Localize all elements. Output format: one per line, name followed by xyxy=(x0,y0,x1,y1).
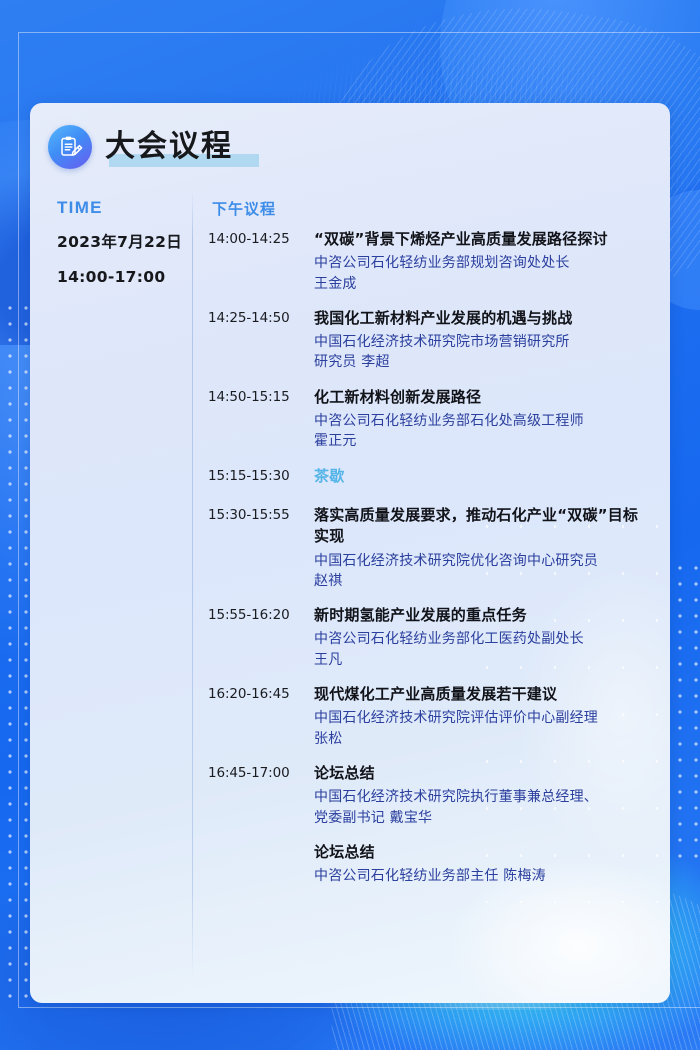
agenda-row-speaker: 中国石化经济技术研究院执行董事兼总经理、党委副书记 戴宝华 xyxy=(314,787,650,828)
agenda-row-body: “双碳”背景下烯烃产业高质量发展路径探讨中咨公司石化轻纺业务部规划咨询处处长王金… xyxy=(304,229,650,294)
agenda-row-sub: 论坛总结中咨公司石化轻纺业务部主任 陈梅涛 xyxy=(314,842,650,887)
column-header-agenda: 下午议程 xyxy=(212,198,276,219)
agenda-row: 14:00-14:25“双碳”背景下烯烃产业高质量发展路径探讨中咨公司石化轻纺业… xyxy=(208,229,650,294)
agenda-list: 14:00-14:25“双碳”背景下烯烃产业高质量发展路径探讨中咨公司石化轻纺业… xyxy=(208,229,650,900)
agenda-row-title: 化工新材料创新发展路径 xyxy=(314,387,650,408)
agenda-row-title: 我国化工新材料产业发展的机遇与挑战 xyxy=(314,308,650,329)
agenda-row-speaker: 中国石化经济技术研究院评估评价中心副经理张松 xyxy=(314,708,650,749)
poster-root: 大会议程 TIME 下午议程 2023年7月22日 14:00-17:00 14… xyxy=(0,0,700,1050)
agenda-row-time: 15:30-15:55 xyxy=(208,505,304,591)
agenda-row-body: 新时期氢能产业发展的重点任务中咨公司石化轻纺业务部化工医药处副处长王凡 xyxy=(304,605,650,670)
agenda-row-speaker: 中国石化经济技术研究院市场营销研究所研究员 李超 xyxy=(314,332,650,373)
agenda-row-sub-title: 论坛总结 xyxy=(314,842,650,863)
agenda-row: 16:45-17:00论坛总结中国石化经济技术研究院执行董事兼总经理、党委副书记… xyxy=(208,763,650,886)
agenda-row-body: 茶歇 xyxy=(304,466,650,487)
agenda-row-speaker: 中国石化经济技术研究院优化咨询中心研究员赵祺 xyxy=(314,551,650,592)
agenda-row-time: 16:45-17:00 xyxy=(208,763,304,886)
event-date: 2023年7月22日 xyxy=(57,230,182,252)
agenda-row-speaker: 中咨公司石化轻纺业务部规划咨询处处长王金成 xyxy=(314,253,650,294)
agenda-row-speaker: 中咨公司石化轻纺业务部石化处高级工程师霍正元 xyxy=(314,411,650,452)
agenda-row: 16:20-16:45现代煤化工产业高质量发展若干建议中国石化经济技术研究院评估… xyxy=(208,684,650,749)
page-title-wrap: 大会议程 xyxy=(105,132,233,162)
agenda-break-title: 茶歇 xyxy=(314,466,650,487)
agenda-row-body: 现代煤化工产业高质量发展若干建议中国石化经济技术研究院评估评价中心副经理张松 xyxy=(304,684,650,749)
agenda-row-body: 化工新材料创新发展路径中咨公司石化轻纺业务部石化处高级工程师霍正元 xyxy=(304,387,650,452)
agenda-row-time: 16:20-16:45 xyxy=(208,684,304,749)
event-time-range: 14:00-17:00 xyxy=(57,268,182,286)
date-block: 2023年7月22日 14:00-17:00 xyxy=(57,230,182,302)
agenda-row-title: 论坛总结 xyxy=(314,763,650,784)
agenda-row-title: 落实高质量发展要求，推动石化产业“双碳”目标实现 xyxy=(314,505,650,548)
dot-pattern-left xyxy=(2,300,32,1000)
agenda-row-body: 论坛总结中国石化经济技术研究院执行董事兼总经理、党委副书记 戴宝华论坛总结中咨公… xyxy=(304,763,650,886)
column-divider xyxy=(192,191,193,981)
agenda-row-time: 15:15-15:30 xyxy=(208,466,304,487)
agenda-row-speaker: 中咨公司石化轻纺业务部化工医药处副处长王凡 xyxy=(314,629,650,670)
agenda-row: 15:15-15:30茶歇 xyxy=(208,466,650,487)
agenda-row-time: 14:50-15:15 xyxy=(208,387,304,452)
agenda-row-title: 现代煤化工产业高质量发展若干建议 xyxy=(314,684,650,705)
agenda-row-time: 15:55-16:20 xyxy=(208,605,304,670)
agenda-row-time: 14:00-14:25 xyxy=(208,229,304,294)
agenda-row-title: 新时期氢能产业发展的重点任务 xyxy=(314,605,650,626)
agenda-row-time: 14:25-14:50 xyxy=(208,308,304,373)
agenda-row-title: “双碳”背景下烯烃产业高质量发展路径探讨 xyxy=(314,229,650,250)
agenda-row: 15:30-15:55落实高质量发展要求，推动石化产业“双碳”目标实现中国石化经… xyxy=(208,505,650,591)
agenda-row-sub-speaker: 中咨公司石化轻纺业务部主任 陈梅涛 xyxy=(314,866,650,886)
agenda-row-body: 落实高质量发展要求，推动石化产业“双碳”目标实现中国石化经济技术研究院优化咨询中… xyxy=(304,505,650,591)
clipboard-pencil-icon xyxy=(48,125,92,169)
card-header: 大会议程 xyxy=(48,125,233,169)
agenda-row: 14:50-15:15化工新材料创新发展路径中咨公司石化轻纺业务部石化处高级工程… xyxy=(208,387,650,452)
page-title: 大会议程 xyxy=(105,132,233,162)
agenda-row: 15:55-16:20新时期氢能产业发展的重点任务中咨公司石化轻纺业务部化工医药… xyxy=(208,605,650,670)
agenda-row-body: 我国化工新材料产业发展的机遇与挑战中国石化经济技术研究院市场营销研究所研究员 李… xyxy=(304,308,650,373)
agenda-card: 大会议程 TIME 下午议程 2023年7月22日 14:00-17:00 14… xyxy=(30,103,670,1003)
column-header-time: TIME xyxy=(57,198,103,218)
agenda-row: 14:25-14:50我国化工新材料产业发展的机遇与挑战中国石化经济技术研究院市… xyxy=(208,308,650,373)
